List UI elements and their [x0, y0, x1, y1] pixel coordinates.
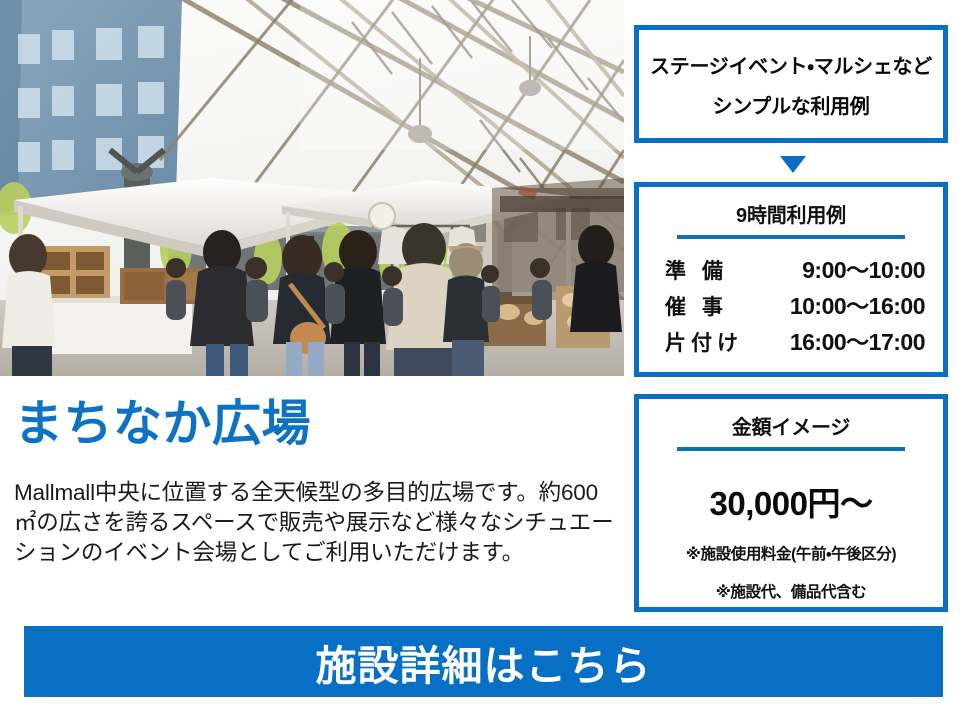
price-amount: 30,000円〜: [639, 477, 943, 525]
promo-page: まちなか広場 Mallmall中央に位置する全天候型の多目的広場です。約600㎡…: [0, 0, 960, 720]
schedule-row: 片付け 16:00〜17:00: [665, 323, 925, 359]
venue-photo: [0, 0, 624, 376]
price-panel-title: 金額イメージ: [639, 411, 943, 440]
schedule-row-time: 10:00〜16:00: [790, 287, 925, 321]
facility-details-button[interactable]: 施設詳細はこちら: [24, 626, 943, 697]
schedule-row-label: 催 事: [665, 291, 728, 321]
usage-intro-lines: ステージイベント・マルシェなど シンプルな利用例: [639, 30, 943, 138]
schedule-row: 催 事 10:00〜16:00: [665, 287, 925, 323]
price-divider: [677, 447, 905, 451]
price-note-2: ※施設代、備品代含む: [639, 585, 943, 601]
price-panel: 金額イメージ 30,000円〜 ※施設使用料金(午前・午後区分) ※施設代、備品…: [634, 394, 948, 612]
venue-description: Mallmall中央に位置する全天候型の多目的広場です。約600㎡の広さを誇るス…: [14, 478, 614, 568]
schedule-panel: 9時間利用例 準 備 9:00〜10:00 催 事 10:00〜16:00 片付…: [634, 182, 948, 377]
usage-intro-panel: ステージイベント・マルシェなど シンプルな利用例: [634, 25, 948, 143]
venue-photo-illustration: [0, 0, 624, 376]
schedule-row-time: 16:00〜17:00: [790, 323, 925, 357]
page-title: まちなか広場: [14, 398, 311, 451]
schedule-row-label: 準 備: [665, 255, 728, 285]
schedule-list: 準 備 9:00〜10:00 催 事 10:00〜16:00 片付け 16:00…: [639, 251, 943, 359]
schedule-row-label: 片付け: [665, 327, 743, 357]
price-notes: ※施設使用料金(午前・午後区分) ※施設代、備品代含む: [639, 547, 943, 600]
schedule-row: 準 備 9:00〜10:00: [665, 251, 925, 287]
schedule-row-time: 9:00〜10:00: [802, 251, 925, 285]
usage-intro-line-2: シンプルな利用例: [713, 90, 870, 119]
schedule-divider: [677, 235, 905, 239]
usage-intro-line-1: ステージイベント・マルシェなど: [650, 50, 932, 79]
schedule-panel-title: 9時間利用例: [639, 199, 943, 228]
triangle-down-icon: [780, 156, 806, 173]
price-note-1: ※施設使用料金(午前・午後区分): [639, 547, 943, 563]
facility-details-button-label: 施設詳細はこちら: [316, 632, 652, 692]
